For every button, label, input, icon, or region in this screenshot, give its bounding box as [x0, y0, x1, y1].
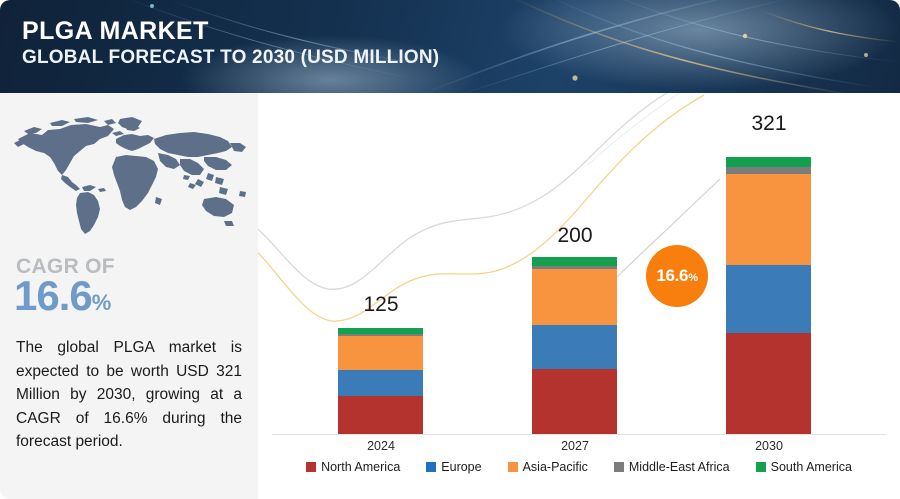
bar-total-label-2030: 321 [699, 112, 839, 136]
bar-segment-europe [726, 265, 811, 333]
x-tick-label-2024: 2024 [311, 439, 451, 453]
cagr-badge-value: 16.6 [656, 266, 688, 285]
world-map-icon [8, 113, 250, 235]
header-banner: PLGA MARKET GLOBAL FORECAST TO 2030 (USD… [0, 0, 900, 93]
cagr-badge-percent: % [688, 272, 697, 284]
bar-total-label-2024: 125 [311, 293, 451, 317]
cagr-percent-sign: % [92, 290, 111, 315]
cagr-badge: 16.6% [646, 245, 708, 307]
bar-segment-south-america [726, 157, 811, 167]
sidebar: CAGR OF 16.6% The global PLGA market is … [0, 93, 258, 499]
bar-segment-europe [338, 370, 423, 396]
bar-segment-asia-pacific [726, 174, 811, 265]
bar-segment-north-america [532, 369, 617, 434]
cagr-badge-text: 16.6% [656, 266, 697, 286]
bar-segment-north-america [726, 333, 811, 434]
bar-segment-asia-pacific [338, 336, 423, 370]
legend-item-north-america[interactable]: North America [306, 460, 400, 474]
sidebar-description: The global PLGA market is expected to be… [16, 336, 242, 454]
infographic-root: PLGA MARKET GLOBAL FORECAST TO 2030 (USD… [0, 0, 900, 499]
legend-swatch-south-america [756, 462, 766, 472]
legend-label-asia-pacific: Asia-Pacific [523, 460, 588, 474]
plot-area: 125 2024 200 2027 321 [258, 93, 900, 499]
cagr-number: 16.6 [14, 272, 92, 319]
header-text-block: PLGA MARKET GLOBAL FORECAST TO 2030 (USD… [22, 18, 439, 69]
bar-segment-asia-pacific [532, 269, 617, 325]
bar-segment-south-america [532, 257, 617, 266]
legend-item-south-america[interactable]: South America [756, 460, 852, 474]
legend-label-europe: Europe [441, 460, 481, 474]
legend-swatch-middle-east-africa [614, 462, 624, 472]
bar-segment-north-america [338, 396, 423, 434]
chart-legend: North America Europe Asia-Pacific Middle… [258, 455, 900, 479]
chart-panel: 125 2024 200 2027 321 [258, 93, 900, 499]
legend-label-middle-east-africa: Middle-East Africa [629, 460, 730, 474]
x-tick-label-2030: 2030 [699, 439, 839, 453]
legend-label-south-america: South America [771, 460, 852, 474]
legend-swatch-europe [426, 462, 436, 472]
bar-segment-europe [532, 325, 617, 369]
bar-2030 [726, 157, 811, 434]
legend-item-asia-pacific[interactable]: Asia-Pacific [508, 460, 588, 474]
bar-total-label-2027: 200 [505, 224, 645, 248]
bar-segment-middle-east-africa [726, 167, 811, 174]
page-title: PLGA MARKET [22, 18, 439, 44]
bar-2024 [338, 328, 423, 434]
legend-label-north-america: North America [321, 460, 400, 474]
legend-swatch-north-america [306, 462, 316, 472]
legend-swatch-asia-pacific [508, 462, 518, 472]
bar-2027 [532, 257, 617, 434]
legend-item-middle-east-africa[interactable]: Middle-East Africa [614, 460, 730, 474]
x-tick-label-2027: 2027 [505, 439, 645, 453]
page-subtitle: GLOBAL FORECAST TO 2030 (USD MILLION) [22, 47, 439, 69]
cagr-value: 16.6% [14, 275, 110, 317]
legend-item-europe[interactable]: Europe [426, 460, 481, 474]
x-axis-line [272, 434, 886, 435]
